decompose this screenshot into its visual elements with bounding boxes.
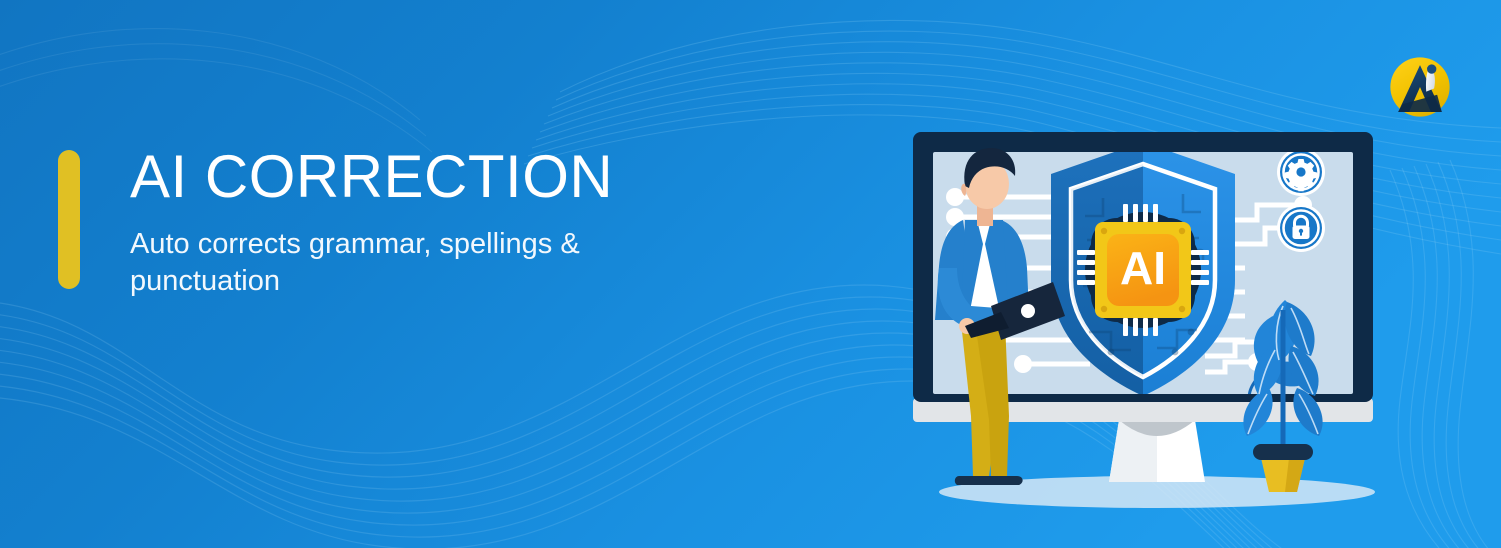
lock-icon[interactable] <box>1277 204 1325 252</box>
person-shoe-front <box>985 476 1023 485</box>
plant-pot-rim <box>1253 444 1313 460</box>
chip-ai-label: AI <box>1120 242 1166 294</box>
ai-security-monitor-illustration: AI <box>905 120 1405 520</box>
company-logo[interactable] <box>1381 48 1459 126</box>
hero-text-block: AI CORRECTION Auto corrects grammar, spe… <box>58 146 758 300</box>
laptop-logo <box>1021 304 1035 318</box>
page-title: AI CORRECTION <box>130 146 670 208</box>
logo-dot <box>1427 64 1436 73</box>
page-subtitle: Auto corrects grammar, spellings & punct… <box>130 226 670 300</box>
accent-bar <box>58 150 80 289</box>
ai-correction-banner: AI CORRECTION Auto corrects grammar, spe… <box>0 0 1501 548</box>
gear-icon[interactable] <box>1277 148 1325 196</box>
